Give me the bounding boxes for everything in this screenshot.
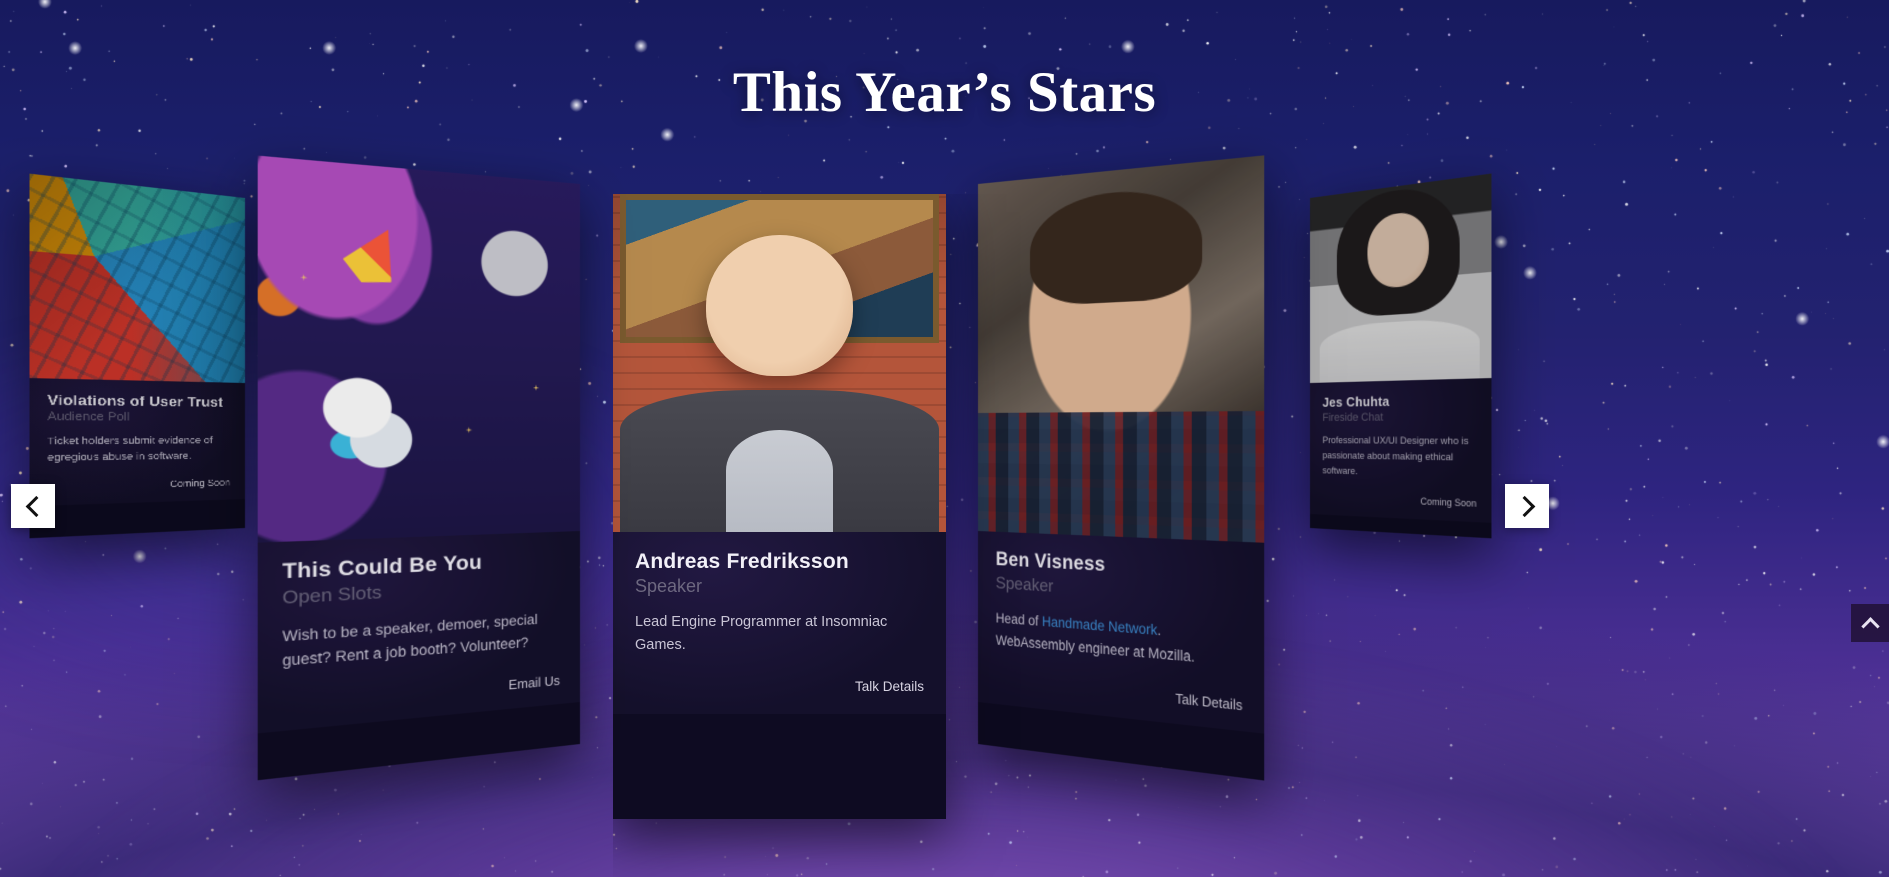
card-role: Speaker bbox=[635, 576, 924, 597]
card-cta-link[interactable]: Email Us bbox=[282, 674, 560, 714]
card-cta-link[interactable]: Coming Soon bbox=[47, 478, 230, 493]
card-image-portrait-andreas-fredriksson bbox=[613, 194, 946, 532]
card-image-astronaut-space-illustration bbox=[258, 156, 580, 543]
card-image-portrait-jes-chuhta bbox=[1310, 173, 1491, 382]
carousel-card-jes-chuhta[interactable]: Jes Chuhta Fireside Chat Professional UX… bbox=[1310, 173, 1491, 538]
card-body: Violations of User Trust Audience Poll T… bbox=[30, 378, 245, 507]
chevron-up-icon bbox=[1861, 617, 1879, 635]
portrait-head bbox=[706, 235, 853, 377]
card-role: Fireside Chat bbox=[1322, 410, 1476, 424]
portrait-shirt bbox=[726, 430, 833, 531]
sparkle-icon bbox=[533, 385, 539, 391]
card-description: Ticket holders submit evidence of egregi… bbox=[47, 433, 230, 467]
card-image-windows-logo-tech-collage bbox=[30, 174, 245, 383]
carousel-card-andreas-fredriksson[interactable]: Andreas Fredriksson Speaker Lead Engine … bbox=[613, 194, 946, 819]
card-body: Ben Visness Speaker Head of Handmade Net… bbox=[978, 531, 1264, 733]
sparkle-icon bbox=[466, 427, 472, 433]
portrait-blouse bbox=[1320, 317, 1480, 382]
portrait-hair bbox=[1030, 184, 1201, 306]
card-title: Andreas Fredriksson bbox=[635, 550, 924, 574]
card-title: Jes Chuhta bbox=[1322, 391, 1476, 409]
sparkle-icon bbox=[300, 274, 307, 281]
card-cta-link[interactable]: Coming Soon bbox=[1322, 493, 1476, 510]
description-prefix: Head of bbox=[996, 610, 1042, 629]
scroll-to-top-button[interactable] bbox=[1851, 604, 1889, 642]
card-role: Audience Poll bbox=[47, 410, 230, 424]
chevron-right-icon bbox=[1514, 495, 1535, 516]
chevron-left-icon bbox=[25, 495, 46, 516]
card-description: Professional UX/UI Designer who is passi… bbox=[1322, 433, 1476, 483]
portrait-plaid-shirt bbox=[978, 411, 1264, 543]
card-cta-link[interactable]: Talk Details bbox=[635, 679, 924, 694]
carousel-prev-button[interactable] bbox=[11, 484, 55, 528]
astronaut-icon bbox=[307, 373, 447, 487]
card-body: Jes Chuhta Fireside Chat Professional UX… bbox=[1310, 378, 1491, 523]
carousel-next-button[interactable] bbox=[1505, 484, 1549, 528]
carousel-card-ben-visness[interactable]: Ben Visness Speaker Head of Handmade Net… bbox=[978, 155, 1264, 780]
card-description: Lead Engine Programmer at Insomniac Game… bbox=[635, 611, 924, 658]
card-body: This Could Be You Open Slots Wish to be … bbox=[258, 531, 580, 733]
card-body: Andreas Fredriksson Speaker Lead Engine … bbox=[613, 532, 946, 715]
carousel-card-this-could-be-you[interactable]: This Could Be You Open Slots Wish to be … bbox=[258, 156, 580, 781]
speaker-carousel[interactable]: Violations of User Trust Audience Poll T… bbox=[0, 150, 1889, 710]
card-title: Violations of User Trust bbox=[47, 391, 230, 409]
card-description: Wish to be a speaker, demoer, special gu… bbox=[282, 607, 560, 673]
page-title: This Year’s Stars bbox=[0, 62, 1889, 125]
rocket-icon bbox=[337, 217, 412, 293]
card-description: Head of Handmade Network. WebAssembly en… bbox=[996, 607, 1243, 673]
card-cta-link[interactable]: Talk Details bbox=[996, 674, 1243, 714]
carousel-card-violations-of-user-trust[interactable]: Violations of User Trust Audience Poll T… bbox=[30, 174, 245, 539]
handmade-network-link[interactable]: Handmade Network bbox=[1042, 614, 1157, 638]
page-stage: This Year’s Stars Violations of User Tru… bbox=[0, 0, 1889, 877]
card-image-portrait-ben-visness bbox=[978, 155, 1264, 543]
